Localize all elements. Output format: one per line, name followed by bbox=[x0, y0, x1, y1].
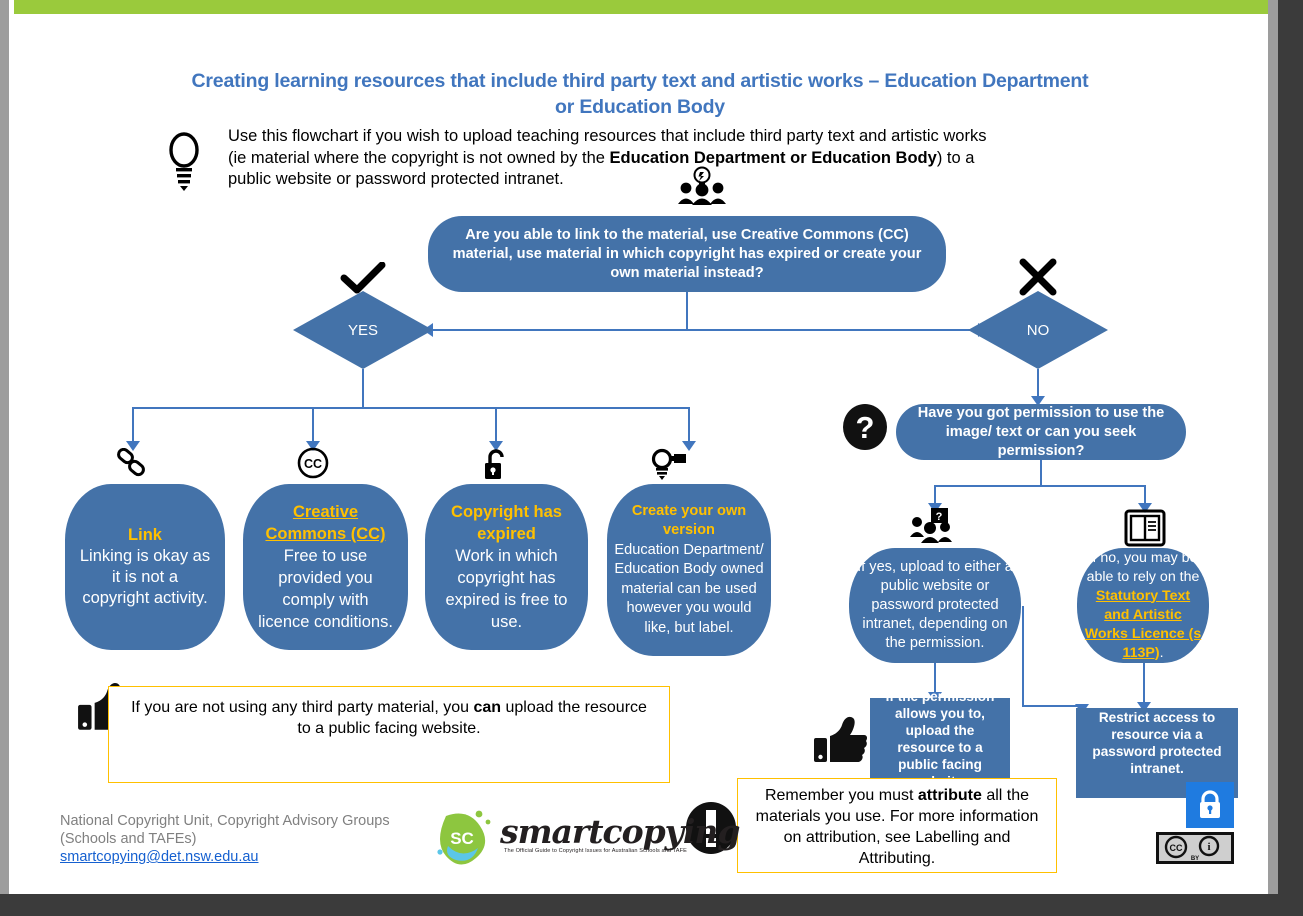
svg-text:BY: BY bbox=[1191, 856, 1199, 861]
permission-no-text-b: . bbox=[1160, 645, 1164, 661]
people-idea-icon bbox=[676, 166, 728, 211]
smartcopying-tagline: The Official Guide to Copyright Issues f… bbox=[504, 848, 687, 854]
callout-attribute-text: Remember you must attribute all the mate… bbox=[738, 779, 1056, 869]
question-mark-icon: ? bbox=[840, 402, 890, 457]
bulb-plug-icon bbox=[648, 448, 690, 485]
connector-yes-b1 bbox=[132, 407, 134, 445]
smartcopying-logo-mark: SC bbox=[432, 806, 498, 875]
right-page-shadow bbox=[1278, 0, 1303, 916]
connector-bus-yes-no bbox=[433, 329, 988, 331]
main-question-node[interactable]: Are you able to link to the material, us… bbox=[428, 216, 946, 292]
branch-node-creative-commons[interactable]: Creative Commons (CC) Free to use provid… bbox=[243, 484, 408, 650]
branch-body-copyright-expired: Work in which copyright has expired is f… bbox=[446, 547, 568, 631]
connector-permission-down bbox=[1040, 460, 1042, 486]
decision-no[interactable]: NO bbox=[968, 291, 1108, 369]
branch-node-link[interactable]: Link Linking is okay as it is not a copy… bbox=[65, 484, 225, 650]
branch-heading-copyright-expired: Copyright has expired bbox=[437, 501, 576, 545]
connector-elbow-h bbox=[1022, 705, 1082, 707]
svg-text:i: i bbox=[1207, 841, 1210, 853]
page-title: Creating learning resources that include… bbox=[180, 68, 1100, 120]
connector-yes-down bbox=[362, 369, 364, 408]
connector-yes-bus bbox=[132, 407, 690, 409]
connector-yes-b4 bbox=[688, 407, 690, 445]
branch-heading-creative-commons[interactable]: Creative Commons (CC) bbox=[255, 501, 396, 545]
permission-yes-node[interactable]: If yes, upload to either a public websit… bbox=[849, 548, 1021, 663]
branch-node-copyright-expired[interactable]: Copyright has expired Work in which copy… bbox=[425, 484, 588, 650]
right-border-rail bbox=[1268, 0, 1278, 894]
callout-attribute: Remember you must attribute all the mate… bbox=[737, 778, 1057, 873]
connector-main-down bbox=[686, 292, 688, 330]
svg-text:?: ? bbox=[856, 410, 875, 445]
left-border-rail bbox=[0, 0, 9, 894]
connector-no-down bbox=[1037, 369, 1039, 399]
footer-org-line2: (Schools and TAFEs) bbox=[60, 830, 440, 848]
people-question-icon: ? bbox=[908, 508, 958, 549]
intro-line-1: Use this flowchart if you wish to upload… bbox=[228, 126, 1168, 148]
lightbulb-icon bbox=[164, 130, 204, 197]
bottom-page-shadow bbox=[0, 894, 1303, 916]
statutory-licence-link[interactable]: Statutory Text and Artistic Works Licenc… bbox=[1085, 588, 1201, 661]
decision-no-label: NO bbox=[1027, 322, 1050, 339]
thumbs-up-icon bbox=[812, 714, 868, 771]
cc-by-badge: CC i BY bbox=[1156, 832, 1234, 864]
footer-org: National Copyright Unit, Copyright Advis… bbox=[60, 812, 440, 866]
open-padlock-icon bbox=[482, 447, 510, 486]
permission-yes-text: If yes, upload to either a public websit… bbox=[849, 554, 1021, 657]
chain-link-icon bbox=[115, 448, 149, 485]
branch-node-create-own[interactable]: Create your own version Education Depart… bbox=[607, 484, 771, 656]
padlock-icon bbox=[1186, 782, 1234, 828]
connector-elbow-v bbox=[1022, 606, 1024, 706]
top-green-bar bbox=[14, 0, 1268, 14]
branch-body-link: Linking is okay as it is not a copyright… bbox=[80, 547, 210, 607]
branch-heading-create-own: Create your own version bbox=[613, 502, 765, 541]
svg-text:?: ? bbox=[936, 511, 943, 523]
branch-heading-link: Link bbox=[77, 525, 213, 546]
permission-question-text: Have you got permission to use the image… bbox=[896, 400, 1186, 465]
flowchart-page: Creating learning resources that include… bbox=[0, 0, 1303, 916]
main-question-text: Are you able to link to the material, us… bbox=[428, 222, 946, 287]
connector-yes-b3 bbox=[495, 407, 497, 445]
permission-no-text-a: If no, you may be able to rely on the bbox=[1087, 550, 1200, 585]
svg-text:CC: CC bbox=[1170, 843, 1183, 853]
branch-body-create-own: Education Department/ Education Body own… bbox=[614, 542, 763, 636]
connector-yes-b2 bbox=[312, 407, 314, 445]
connector-noresult-down bbox=[1143, 663, 1145, 705]
decision-yes[interactable]: YES bbox=[293, 291, 433, 369]
callout-thumbs-up-text: If you are not using any third party mat… bbox=[109, 687, 669, 739]
creative-commons-icon: CC bbox=[297, 447, 329, 484]
connector-permission-bus bbox=[934, 485, 1146, 487]
svg-text:SC: SC bbox=[450, 829, 474, 848]
branch-body-creative-commons: Free to use provided you comply with lic… bbox=[258, 547, 393, 631]
footer-org-line1: National Copyright Unit, Copyright Advis… bbox=[60, 812, 440, 830]
callout-thumbs-up: If you are not using any third party mat… bbox=[108, 686, 670, 783]
smartcopying-wordmark: smartcopying bbox=[500, 812, 739, 851]
decision-yes-label: YES bbox=[348, 322, 378, 339]
svg-text:CC: CC bbox=[304, 457, 322, 471]
public-upload-result-node[interactable]: If the permission allows you to, upload … bbox=[870, 698, 1010, 780]
footer-email-link[interactable]: smartcopying@det.nsw.edu.au bbox=[60, 849, 259, 865]
permission-no-node[interactable]: If no, you may be able to rely on the St… bbox=[1077, 548, 1209, 663]
permission-question-node[interactable]: Have you got permission to use the image… bbox=[896, 404, 1186, 460]
